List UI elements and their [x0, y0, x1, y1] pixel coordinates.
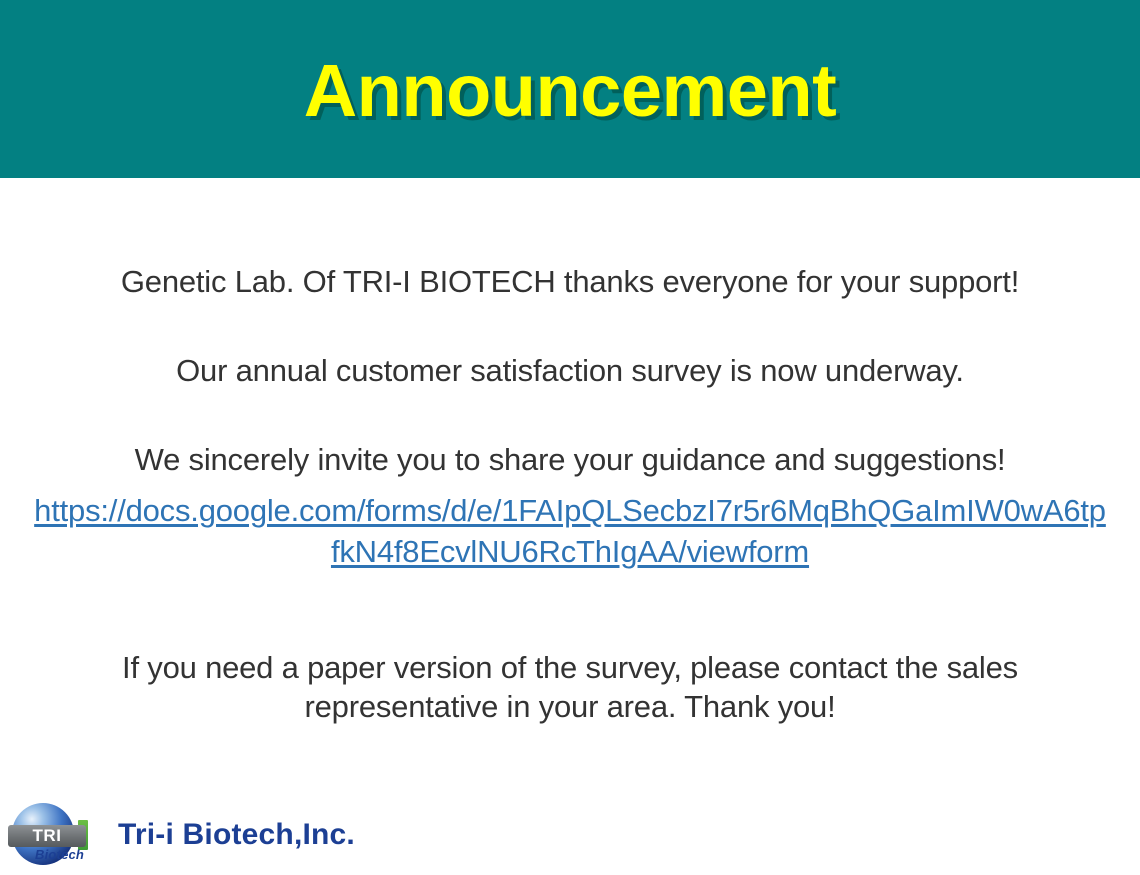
tri-globe-icon: TRI Biotech	[8, 801, 114, 869]
company-wordmark: Tri-i Biotech,Inc.	[118, 818, 355, 852]
slide: Announcement Genetic Lab. Of TRI-I BIOTE…	[0, 0, 1140, 875]
tri-badge-label: TRI	[8, 825, 86, 847]
company-logo: TRI Biotech Tri-i Biotech,Inc.	[8, 801, 355, 869]
body-line-survey-underway: Our annual customer satisfaction survey …	[30, 351, 1110, 390]
page-title: Announcement	[304, 54, 837, 128]
survey-link[interactable]: https://docs.google.com/forms/d/e/1FAIpQ…	[34, 493, 1106, 569]
body-line-invite: We sincerely invite you to share your gu…	[30, 440, 1110, 479]
slide-body: Genetic Lab. Of TRI-I BIOTECH thanks eve…	[0, 178, 1140, 798]
body-line-paper-version: If you need a paper version of the surve…	[30, 648, 1110, 726]
survey-link-container: https://docs.google.com/forms/d/e/1FAIpQ…	[30, 491, 1110, 573]
biotech-label: Biotech	[35, 847, 84, 862]
body-line-thanks: Genetic Lab. Of TRI-I BIOTECH thanks eve…	[30, 262, 1110, 301]
title-banner: Announcement	[0, 0, 1140, 178]
